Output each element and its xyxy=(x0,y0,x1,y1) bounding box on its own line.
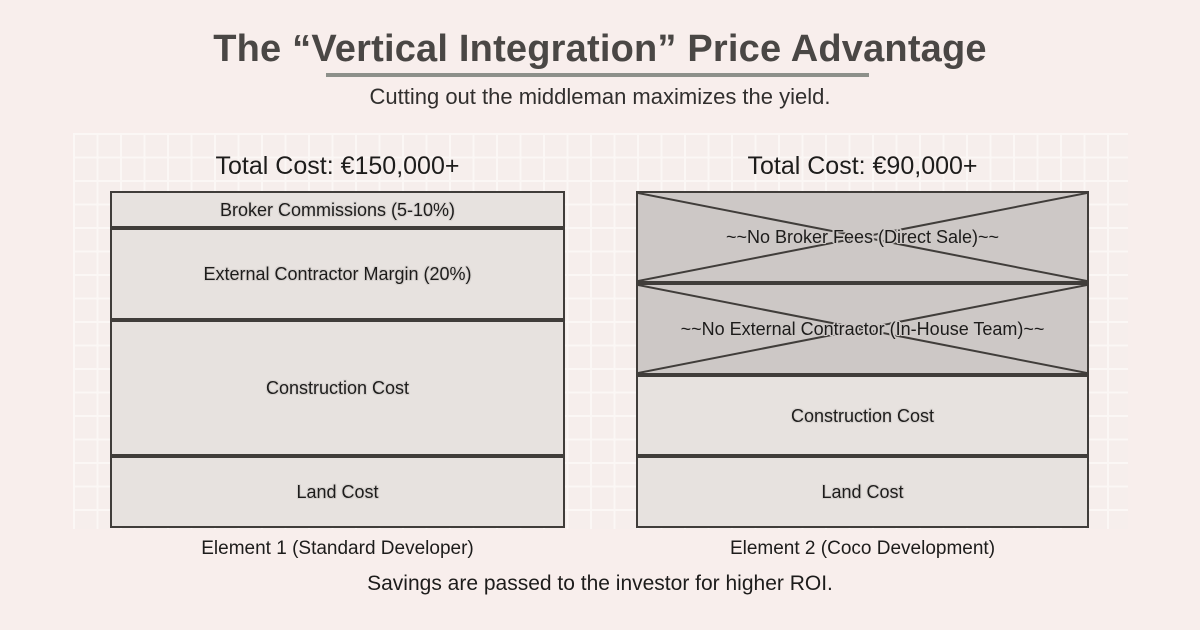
column-caption-standard-developer: Element 1 (Standard Developer) xyxy=(110,536,565,562)
cost-block-label: Construction Cost xyxy=(791,404,934,428)
title-underline-rule xyxy=(326,73,869,77)
cost-block: Construction Cost xyxy=(636,375,1089,456)
cost-block-label: Land Cost xyxy=(296,480,378,504)
footer-note: Savings are passed to the investor for h… xyxy=(0,570,1200,598)
cost-block: External Contractor Margin (20%) xyxy=(110,228,565,320)
total-cost-label-standard-developer: Total Cost: €150,000+ xyxy=(110,149,565,183)
cost-block: Construction Cost xyxy=(110,320,565,456)
cost-block: Broker Commissions (5-10%) xyxy=(110,191,565,228)
cost-block-label: Broker Commissions (5-10%) xyxy=(220,198,455,222)
cost-block-label: ~~No Broker Fees (Direct Sale)~~ xyxy=(726,225,999,249)
column-caption-coco-development: Element 2 (Coco Development) xyxy=(636,536,1089,562)
total-cost-label-coco-development: Total Cost: €90,000+ xyxy=(636,149,1089,183)
page-title: The “Vertical Integration” Price Advanta… xyxy=(0,26,1200,72)
cost-block: ~~No External Contractor (In-House Team)… xyxy=(636,283,1089,375)
cost-block-label: External Contractor Margin (20%) xyxy=(203,262,471,286)
cost-block-label: ~~No External Contractor (In-House Team)… xyxy=(681,317,1045,341)
page-subtitle: Cutting out the middleman maximizes the … xyxy=(0,82,1200,112)
infographic-canvas: The “Vertical Integration” Price Advanta… xyxy=(0,0,1200,630)
cost-block: ~~No Broker Fees (Direct Sale)~~ xyxy=(636,191,1089,283)
cost-block: Land Cost xyxy=(636,456,1089,528)
cost-block-label: Construction Cost xyxy=(266,376,409,400)
cost-block-label: Land Cost xyxy=(821,480,903,504)
cost-block: Land Cost xyxy=(110,456,565,528)
